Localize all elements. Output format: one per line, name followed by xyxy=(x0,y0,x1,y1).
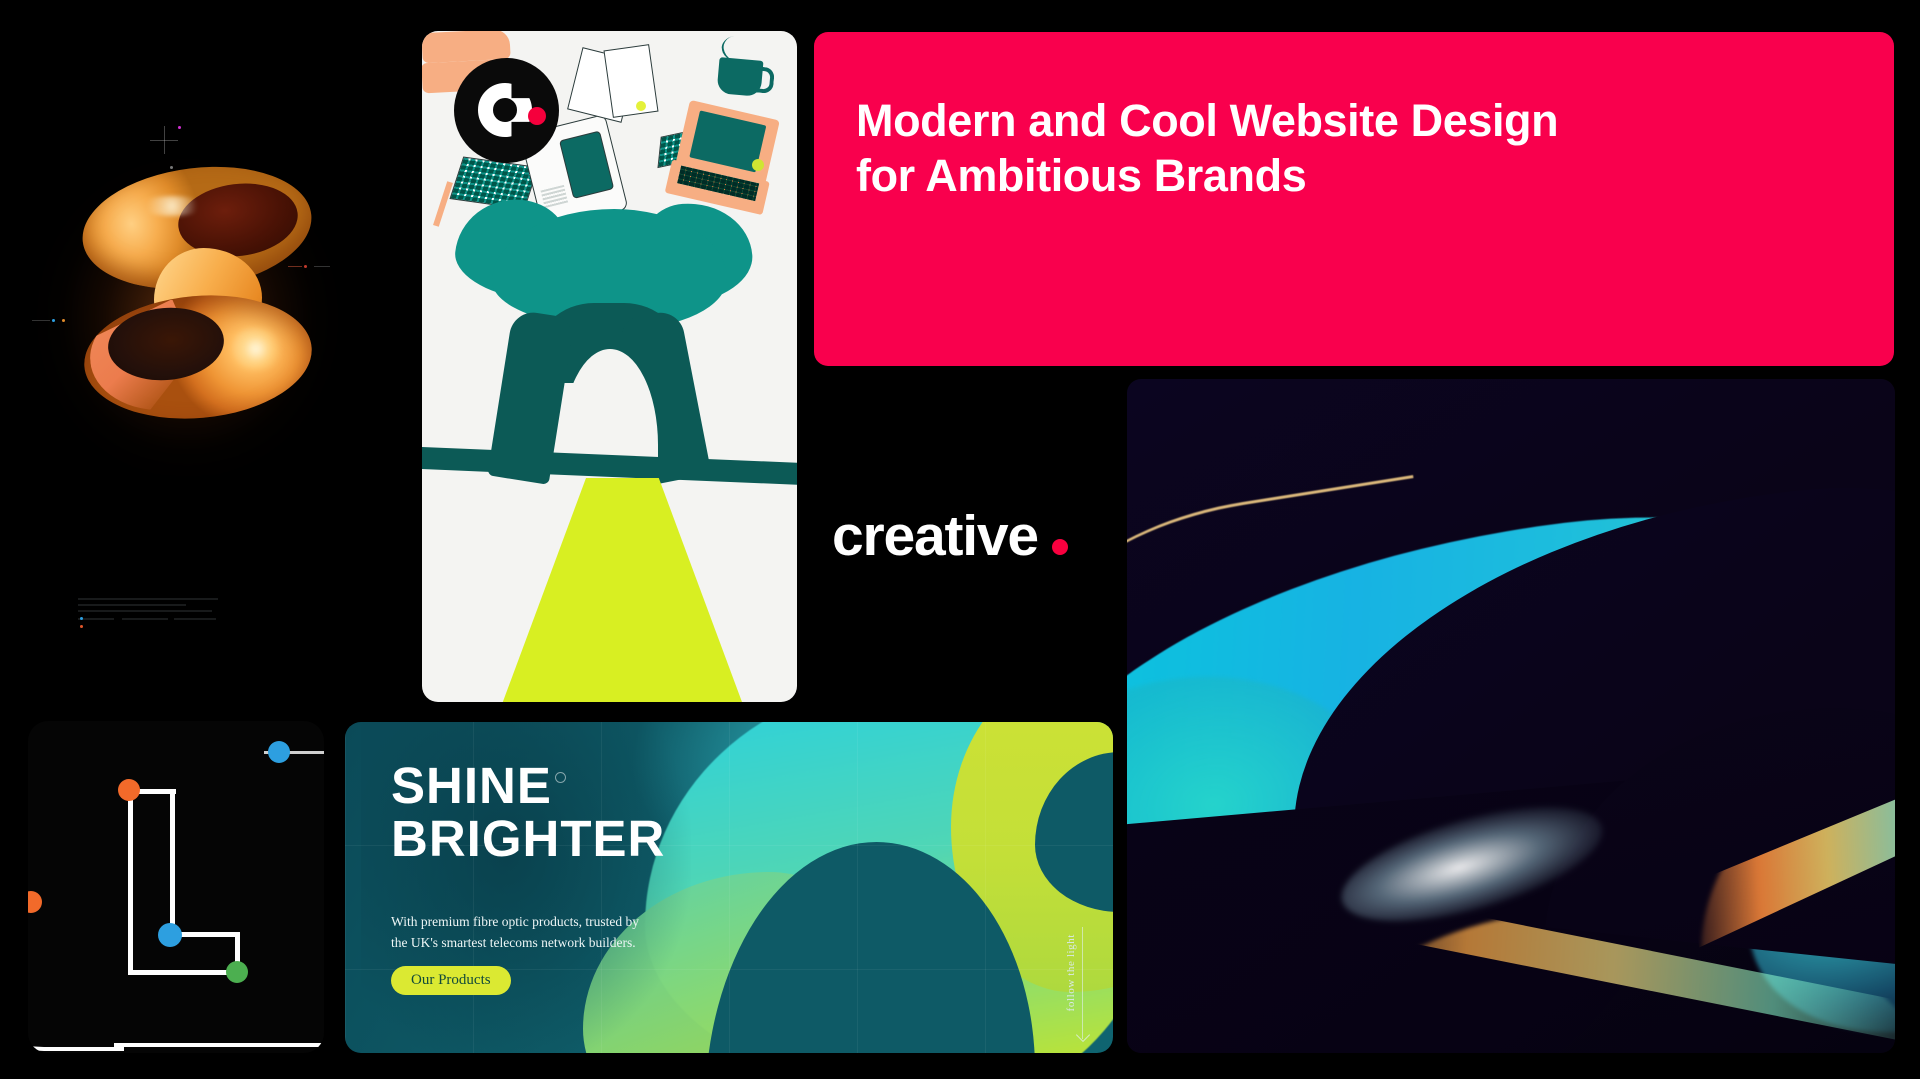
monitor-vent xyxy=(541,185,569,208)
crosshair-icon xyxy=(150,126,178,154)
faint-ui-overlay xyxy=(78,598,218,632)
logo-letter-c xyxy=(478,83,532,137)
follow-the-light-label: follow the light xyxy=(1065,934,1077,1011)
tile-headline-banner[interactable]: Modern and Cool Website Design for Ambit… xyxy=(814,32,1894,366)
paper-sheet-2 xyxy=(603,44,658,118)
node-sweep-curve xyxy=(28,897,124,1051)
headline-title: Modern and Cool Website Design for Ambit… xyxy=(856,94,1856,204)
node-line-left-vertical xyxy=(128,789,133,975)
sculpture-specular-highlight xyxy=(228,328,284,370)
logo-dot-icon xyxy=(528,107,546,125)
collage-stage: Modern and Cool Website Design for Ambit… xyxy=(0,0,1920,1079)
node-dot-blue-center[interactable] xyxy=(158,923,182,947)
creative-dot-icon xyxy=(1052,539,1068,555)
sculpture-top-highlight xyxy=(140,196,204,216)
tile-character-illustration[interactable] xyxy=(422,31,797,702)
node-line-bottom-horizontal xyxy=(128,970,238,975)
down-arrow-icon xyxy=(1082,927,1083,1039)
tick-line-left xyxy=(32,320,50,321)
node-dot-blue-top-right[interactable] xyxy=(268,741,290,763)
laptop-illustration xyxy=(664,99,783,217)
marker-dot-grey xyxy=(170,166,173,169)
yellow-dot-accent xyxy=(636,101,646,111)
monitor-screen xyxy=(559,131,614,199)
pencil-icon xyxy=(433,181,453,227)
tile-node-path-graphic[interactable] xyxy=(28,721,324,1053)
lime-dot-accent xyxy=(752,159,764,171)
creative-lockup: creative xyxy=(832,503,1068,569)
node-dot-orange-top[interactable] xyxy=(118,779,140,801)
marker-dot-magenta xyxy=(178,126,181,129)
brand-logo[interactable] xyxy=(454,58,559,163)
shine-title: SHINE BRIGHTER xyxy=(391,760,665,865)
sculpture-shape xyxy=(82,168,312,418)
marker-dot-red xyxy=(304,265,307,268)
creative-word-text: creative xyxy=(832,503,1038,569)
tick-line-right xyxy=(288,266,302,267)
node-dot-green-bottom[interactable] xyxy=(226,961,248,983)
cup-handle xyxy=(753,66,775,94)
light-beam xyxy=(482,478,742,702)
our-products-button[interactable]: Our Products xyxy=(391,966,511,995)
tick-line-right-2 xyxy=(314,266,330,267)
tile-creative-wordmark[interactable]: creative xyxy=(814,375,1106,703)
node-sweep-tail xyxy=(114,1043,324,1047)
tile-shine-brighter-banner[interactable]: SHINE BRIGHTER With premium fibre optic … xyxy=(345,722,1113,1053)
shine-subtitle: With premium fibre optic products, trust… xyxy=(391,912,639,954)
coffee-cup-icon xyxy=(717,57,764,97)
tile-iridescent-wave[interactable] xyxy=(1127,379,1895,1053)
tile-3d-sculpture[interactable] xyxy=(0,0,410,700)
marker-dot-blue xyxy=(52,319,55,322)
node-line-right-vertical xyxy=(170,789,175,933)
marker-dot-orange xyxy=(62,319,65,322)
